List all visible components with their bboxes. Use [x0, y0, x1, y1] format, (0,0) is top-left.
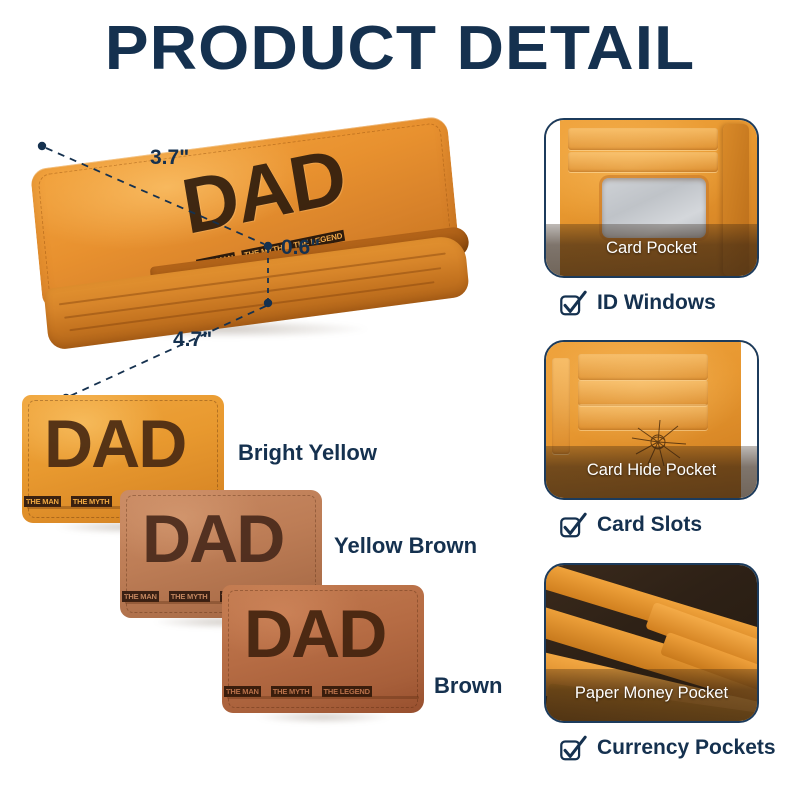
variant-label-yellow-brown: Yellow Brown — [334, 533, 477, 559]
card-slot — [568, 128, 718, 150]
card-slot — [578, 380, 708, 406]
variant-engraving: DAD — [244, 607, 404, 693]
variant-fold-crease — [227, 696, 419, 699]
product-detail-infographic: PRODUCT DETAIL DAD THE MAN THE MYTH THE … — [0, 0, 800, 800]
checkbox-check-icon — [558, 288, 588, 318]
feature-photo-caption: Card Pocket — [546, 224, 757, 276]
feature-check-row: Card Slots — [558, 510, 759, 540]
feature-photo-panel[interactable]: Card Pocket — [544, 118, 759, 278]
variant-tagline-1: THE MYTH — [71, 496, 112, 507]
feature-check-label: Card Slots — [597, 513, 702, 537]
feature-block-currency-pockets: Paper Money Pocket Currency Pockets — [544, 563, 759, 763]
variant-label-bright-yellow: Bright Yellow — [238, 440, 377, 466]
variant-tagline-1: THE MYTH — [169, 591, 210, 602]
feature-check-row: ID Windows — [558, 288, 759, 318]
feature-block-id-windows: Card Pocket ID Windows — [544, 118, 759, 318]
dimension-label-width: 3.7" — [150, 146, 189, 170]
variant-engraving-word: DAD — [244, 607, 404, 663]
dimension-label-length: 4.7" — [173, 328, 212, 352]
variant-tagline-2: THE LEGEND — [322, 686, 372, 697]
side-pocket — [552, 358, 570, 454]
feature-check-label: Currency Pockets — [597, 736, 776, 760]
checkbox-check-icon — [558, 510, 588, 540]
hero-wallet-figure: DAD THE MAN THE MYTH THE LEGEND — [18, 140, 488, 400]
feature-check-row: Currency Pockets — [558, 733, 759, 763]
variant-label-brown: Brown — [434, 673, 502, 699]
variant-tagline-0: THE MAN — [122, 591, 159, 602]
checkbox-check-icon — [558, 733, 588, 763]
feature-check-label: ID Windows — [597, 291, 716, 315]
feature-photo-caption: Paper Money Pocket — [546, 669, 757, 721]
feature-photo-panel[interactable]: Paper Money Pocket — [544, 563, 759, 723]
variant-wallet-brown[interactable]: DAD THE MAN THE MYTH THE LEGEND — [222, 585, 424, 730]
variant-tagline-0: THE MAN — [24, 496, 61, 507]
card-slot — [578, 354, 708, 380]
feature-photo-panel[interactable]: Card Hide Pocket — [544, 340, 759, 500]
dimension-line-length — [70, 306, 266, 396]
variant-wallet-body: DAD THE MAN THE MYTH THE LEGEND — [222, 585, 424, 713]
variant-tagline-0: THE MAN — [224, 686, 261, 697]
feature-photo-caption: Card Hide Pocket — [546, 446, 757, 498]
variant-engraving-taglines: THE MAN THE MYTH THE LEGEND — [224, 686, 372, 697]
feature-block-card-slots: Card Hide Pocket Card Slots — [544, 340, 759, 540]
page-title: PRODUCT DETAIL — [0, 18, 800, 80]
variant-engraving-word: DAD — [142, 512, 302, 568]
dimension-label-thickness: 0.6" — [281, 236, 320, 260]
variant-tagline-1: THE MYTH — [271, 686, 312, 697]
variant-engraving-word: DAD — [44, 417, 204, 473]
dimension-endpoint-dot — [38, 142, 46, 150]
card-slot — [568, 152, 718, 172]
